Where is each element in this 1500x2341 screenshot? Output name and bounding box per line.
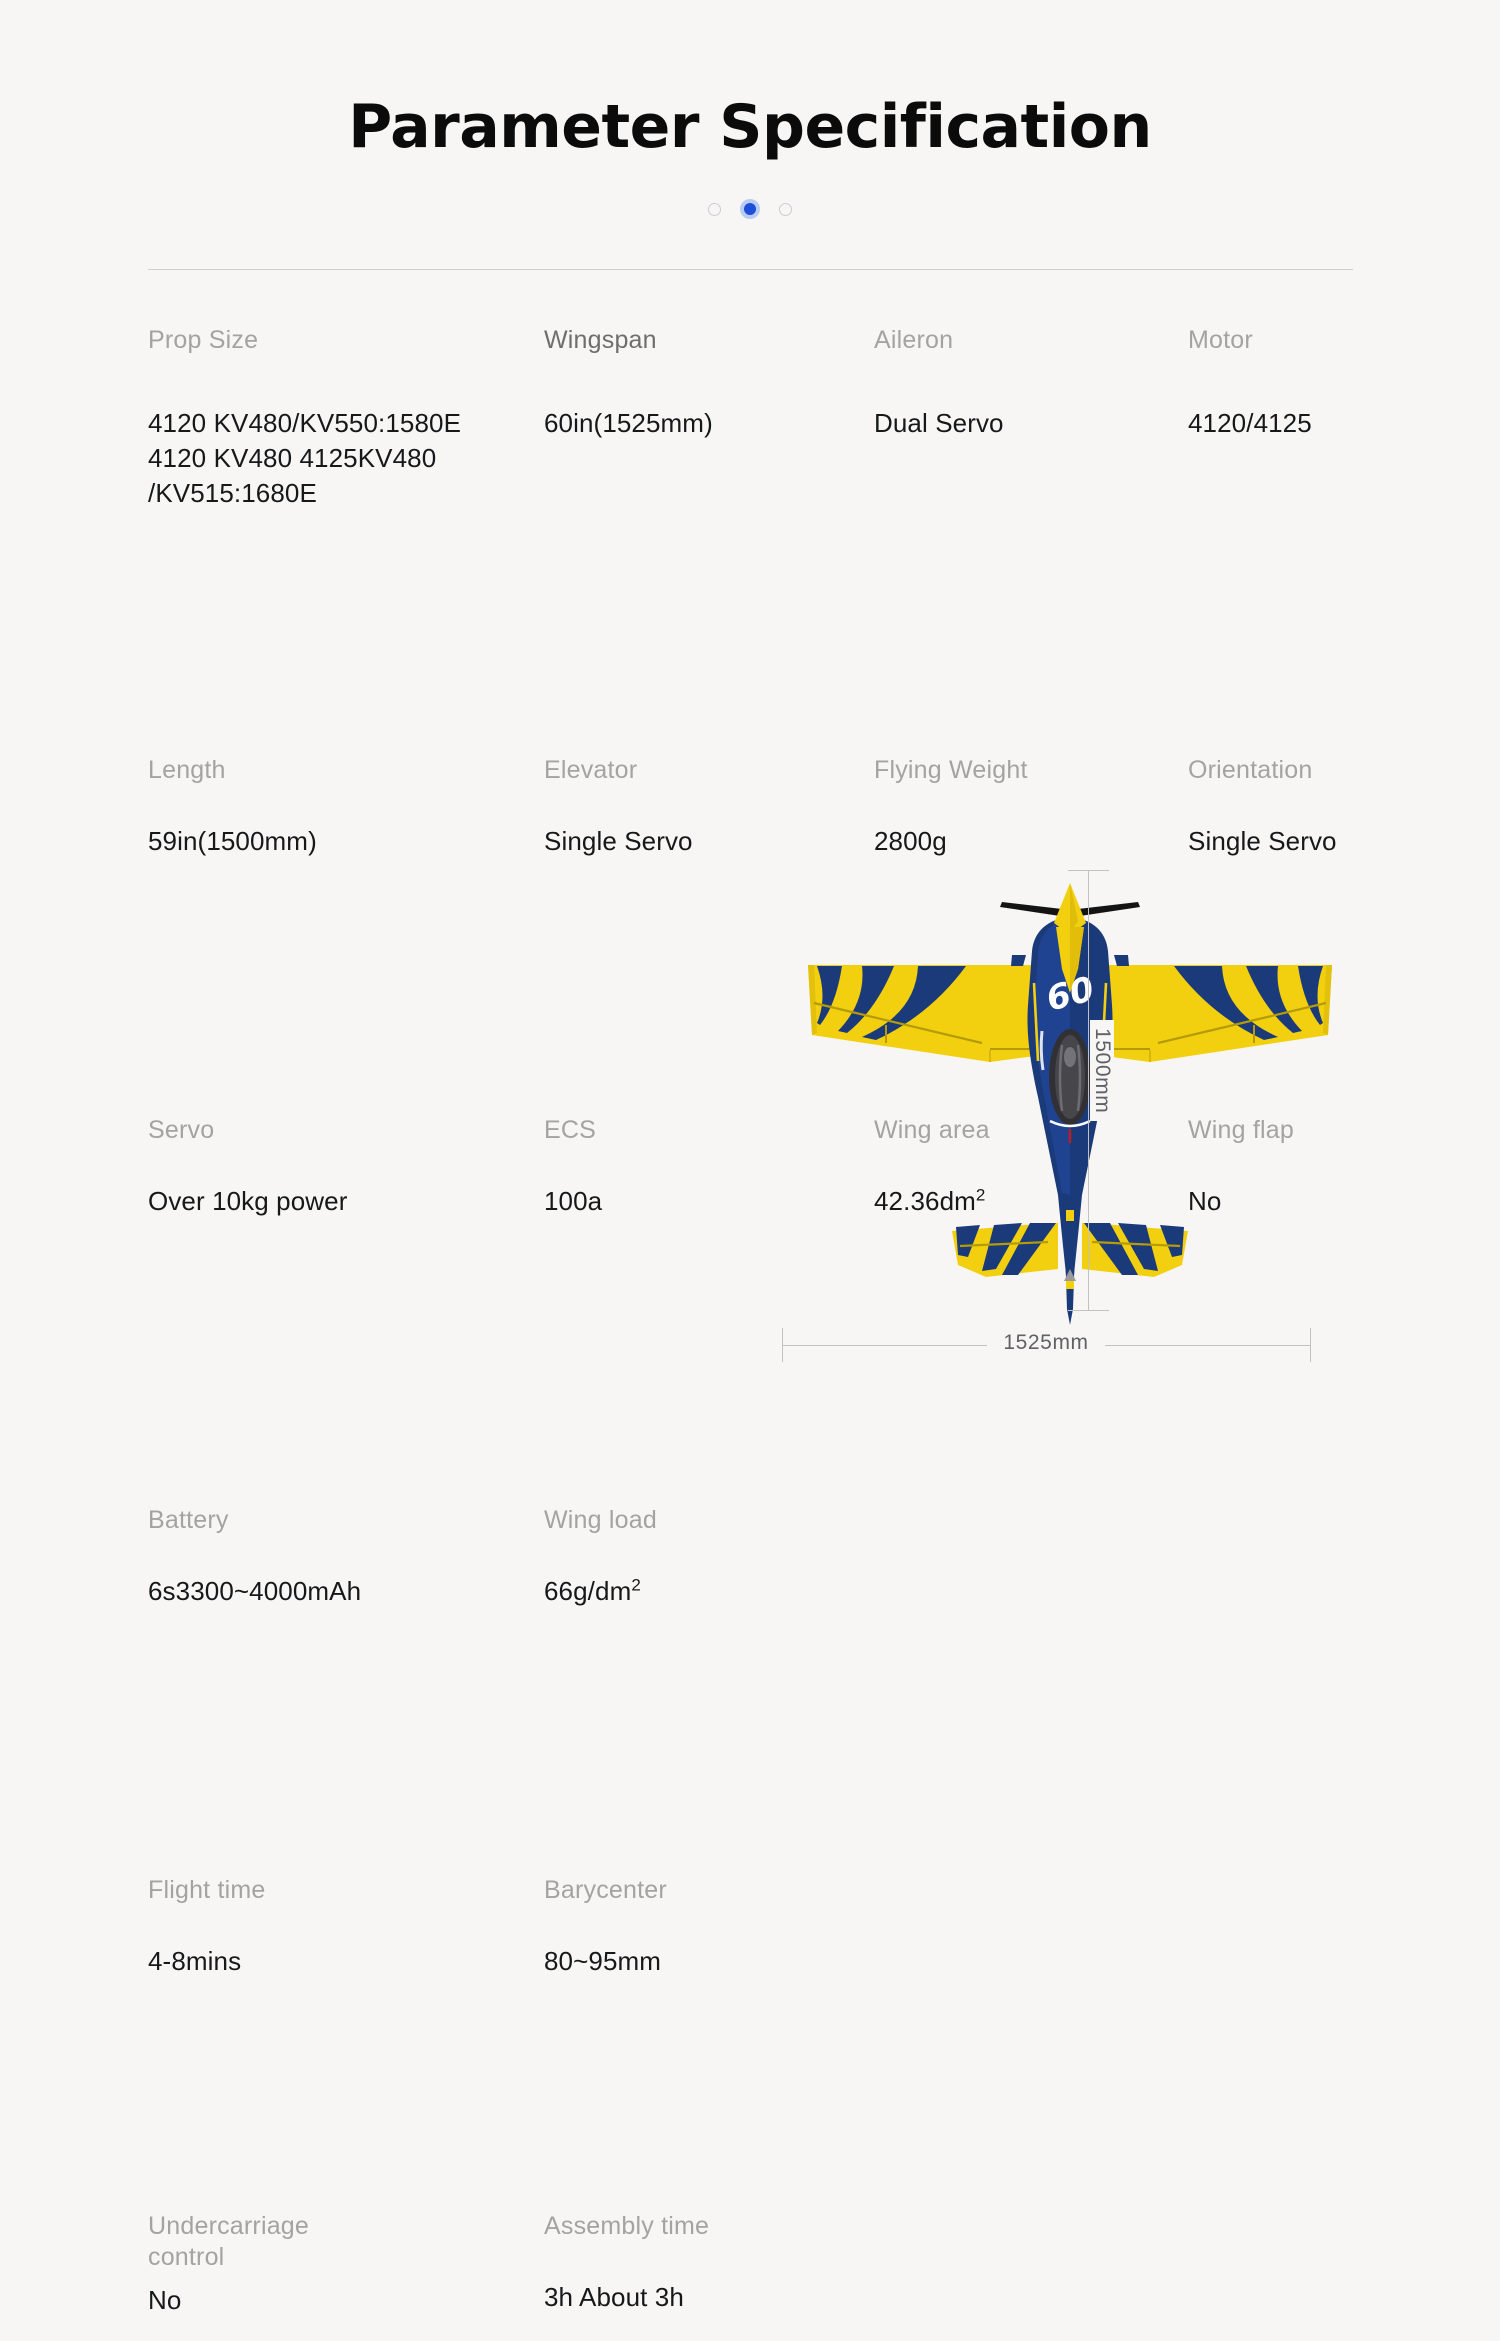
pagination-dot-3[interactable] [779, 203, 792, 216]
spec-cell-elevator: Elevator Single Servo [544, 755, 869, 859]
spec-label: Assembly time [544, 2211, 869, 2242]
dimension-line-vertical [1088, 870, 1089, 1310]
spec-label: Flying Weight [874, 755, 1184, 786]
spec-value: 4120/4125 [1188, 406, 1428, 441]
spec-value: 66g/dm2 [544, 1574, 869, 1609]
spec-cell-flight-time: Flight time 4-8mins [148, 1875, 538, 1979]
winglet-left [1011, 955, 1026, 966]
dimension-cap-top [1068, 870, 1109, 871]
spec-label: Prop Size [148, 325, 538, 356]
dimension-label-width-wrap: 1525mm [760, 1331, 1332, 1355]
spec-label: Flight time [148, 1875, 538, 1906]
spec-label: Elevator [544, 755, 869, 786]
spec-cell-orientation: Orientation Single Servo [1188, 755, 1428, 859]
spec-row: Flight time 4-8mins Barycenter 80~95mm [148, 1875, 1358, 2043]
airplane-illustration: 60 [760, 845, 1370, 1405]
spec-label: Battery [148, 1505, 538, 1536]
spec-label: Undercarriage control [148, 2211, 538, 2273]
spec-label: Wing load [544, 1505, 869, 1536]
carousel-pagination[interactable] [0, 199, 1500, 219]
spec-label: Barycenter [544, 1875, 869, 1906]
pagination-dot-2-active[interactable] [740, 199, 760, 219]
fuselage-white-stripe [1041, 1031, 1043, 1070]
spec-row: Undercarriage control No Assembly time 3… [148, 2211, 1358, 2341]
spec-value: 6s3300~4000mAh [148, 1574, 538, 1609]
spec-label: Motor [1188, 325, 1428, 356]
spec-cell-aileron: Aileron Dual Servo [874, 325, 1184, 441]
dimension-label-width: 1525mm [987, 1331, 1104, 1354]
canopy-glare [1064, 1047, 1076, 1067]
dimension-cap-bottom [1068, 1310, 1109, 1311]
spec-label: Servo [148, 1115, 538, 1146]
spec-value: 4120 KV480/KV550:1580E 4120 KV480 4125KV… [148, 406, 538, 511]
spec-row: Prop Size 4120 KV480/KV550:1580E 4120 KV… [148, 325, 1358, 540]
spec-cell-undercarriage-control: Undercarriage control No [148, 2211, 538, 2318]
propeller-blade-right [1074, 902, 1140, 916]
dimension-label-height: 1500mm [1090, 1020, 1114, 1121]
spec-value: 59in(1500mm) [148, 824, 538, 859]
spec-value: 60in(1525mm) [544, 406, 869, 441]
spec-row: Battery 6s3300~4000mAh Wing load 66g/dm2 [148, 1505, 1358, 1690]
spec-cell-length: Length 59in(1500mm) [148, 755, 538, 859]
spec-value: 80~95mm [544, 1944, 869, 1979]
spec-cell-barycenter: Barycenter 80~95mm [544, 1875, 869, 1979]
page-title: Parameter Specification [0, 92, 1500, 162]
spec-cell-battery: Battery 6s3300~4000mAh [148, 1505, 538, 1609]
spec-label: Aileron [874, 325, 1184, 356]
spec-value: Dual Servo [874, 406, 1184, 441]
header-divider [148, 269, 1353, 270]
spec-value-text: 66g/dm [544, 1576, 631, 1606]
parameter-specification-page: Parameter Specification Prop Size 4120 K… [0, 0, 1500, 1501]
spec-cell-servo: Servo Over 10kg power [148, 1115, 538, 1219]
spec-cell-prop-size: Prop Size 4120 KV480/KV550:1580E 4120 KV… [148, 325, 538, 511]
spec-cell-assembly-time: Assembly time 3h About 3h [544, 2211, 869, 2315]
spec-cell-wingspan: Wingspan 60in(1525mm) [544, 325, 869, 441]
spec-label: Length [148, 755, 538, 786]
winglet-right [1114, 955, 1129, 966]
spec-value: 3h About 3h [544, 2280, 869, 2315]
propeller-blade-left [1000, 902, 1066, 916]
spec-value: 4-8mins [148, 1944, 538, 1979]
tail-yellow-band [1066, 1210, 1074, 1221]
spec-cell-motor: Motor 4120/4125 [1188, 325, 1428, 441]
spec-value-superscript: 2 [631, 1575, 641, 1594]
spec-cell-flying-weight: Flying Weight 2800g [874, 755, 1184, 859]
spec-cell-wing-load: Wing load 66g/dm2 [544, 1505, 869, 1609]
spec-value: Over 10kg power [148, 1184, 538, 1219]
rc-airplane-top-view-icon: 60 [790, 865, 1350, 1355]
pagination-dot-1[interactable] [708, 203, 721, 216]
spec-label: Orientation [1188, 755, 1428, 786]
spec-label: Wingspan [544, 325, 869, 356]
spec-value: No [148, 2283, 538, 2318]
